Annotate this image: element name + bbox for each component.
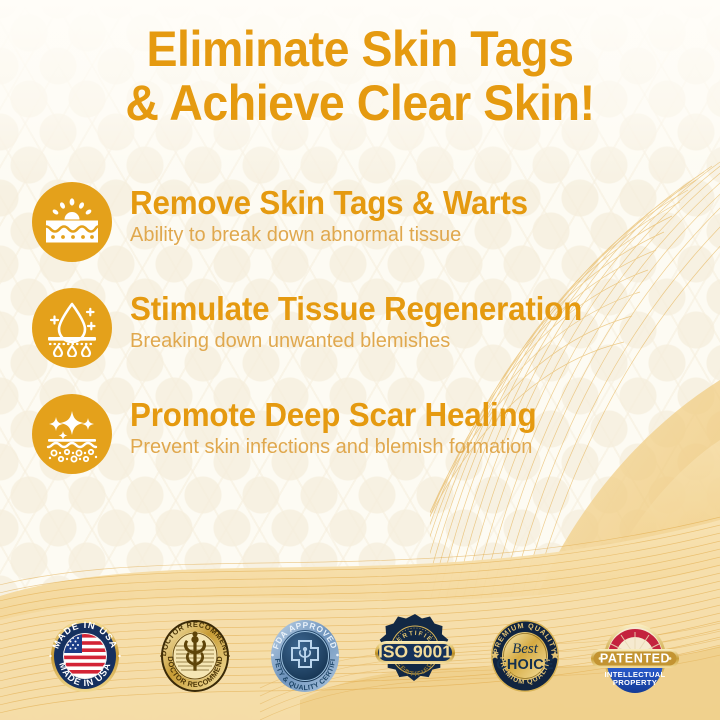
trust-badge-row: MADE IN USA MADE IN USA [0,606,720,706]
feature-title: Stimulate Tissue Regeneration [130,292,582,326]
best-choice-script-text: Best [512,641,539,657]
feature-item: Remove Skin Tags & Warts Ability to brea… [32,182,652,262]
patented-badge: PATENTED INTELLECTUAL PROPERTY [585,608,685,704]
page-title: Eliminate Skin Tags & Achieve Clear Skin… [25,22,695,130]
feature-title: Promote Deep Scar Healing [130,398,536,432]
iso-badge-center-text: ISO 9001 [378,642,452,662]
made-in-usa-badge: MADE IN USA MADE IN USA [35,608,135,704]
feature-item: Promote Deep Scar Healing Prevent skin i… [32,394,652,474]
iso-9001-badge: CERTIFIED CERTIFIED ISO 9001 [365,608,465,704]
headline-line-2: & Achieve Clear Skin! [25,76,695,130]
patented-center-text: PATENTED [600,652,670,666]
feature-subtitle: Breaking down unwanted blemishes [130,329,606,354]
feature-list: Remove Skin Tags & Warts Ability to brea… [32,182,652,500]
feature-subtitle: Ability to break down abnormal tissue [130,223,549,248]
promo-poster: Eliminate Skin Tags & Achieve Clear Skin… [0,0,720,720]
feature-subtitle: Prevent skin infections and blemish form… [130,435,558,460]
droplet-absorb-icon [32,288,112,368]
best-choice-badge: Best CHOICE PREMIUM QUALITY PREMIUM QUAL… [475,608,575,704]
skin-rays-icon [32,182,112,262]
patented-sub-line-2: PROPERTY [613,678,657,687]
headline-line-1: Eliminate Skin Tags [146,21,573,77]
feature-title: Remove Skin Tags & Warts [130,186,528,220]
doctor-recommended-badge: #1 DOCTOR RECOMMENDED #1 DOCTOR RECOMMEN… [145,608,245,704]
sparkle-skin-icon [32,394,112,474]
fda-approved-badge: FDA APPROVED SAFETY & QUALITY CERTIFIED [255,608,355,704]
feature-item: Stimulate Tissue Regeneration Breaking d… [32,288,652,368]
